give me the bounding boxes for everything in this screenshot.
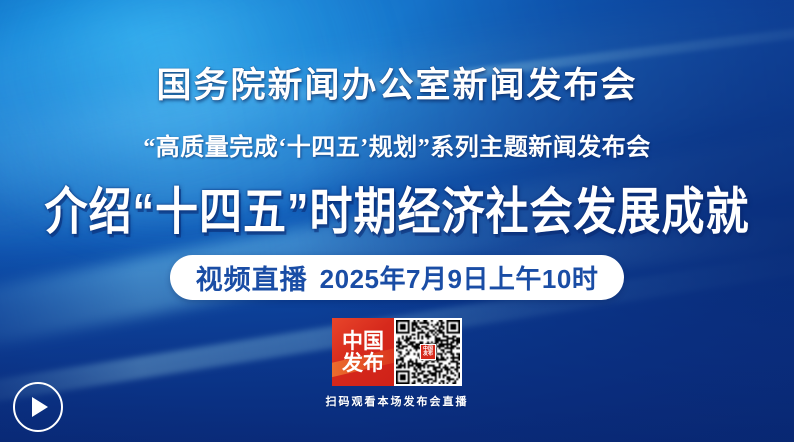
live-label: 视频直播 — [196, 258, 308, 297]
qr-block: 中国 发布 中国 发布 扫码观看本场发布会直播 — [326, 318, 469, 409]
poster-content: 国务院新闻办公室新闻发布会 “高质量完成‘十四五’规划”系列主题新闻发布会 介绍… — [0, 0, 794, 442]
qr-caption: 扫码观看本场发布会直播 — [326, 393, 469, 409]
series-subtitle: “高质量完成‘十四五’规划”系列主题新闻发布会 — [143, 127, 650, 162]
page-title: 国务院新闻办公室新闻发布会 — [156, 57, 637, 108]
play-button[interactable] — [13, 382, 63, 432]
headline: 介绍“十四五”时期经济社会发展成就 — [45, 171, 750, 244]
broadcast-poster: 国务院新闻办公室新闻发布会 “高质量完成‘十四五’规划”系列主题新闻发布会 介绍… — [0, 0, 794, 442]
qr-code[interactable]: 中国 发布 — [394, 318, 462, 386]
brand-logo-line-1: 中国 — [342, 331, 384, 352]
play-triangle-icon — [32, 397, 48, 417]
qr-center-line-2: 发布 — [423, 352, 433, 357]
qr-row: 中国 发布 中国 发布 — [332, 318, 462, 386]
live-broadcast-badge: 视频直播 2025年7月9日上午10时 — [170, 255, 625, 300]
qr-center-logo: 中国 发布 — [420, 344, 436, 360]
live-datetime: 2025年7月9日上午10时 — [320, 259, 599, 296]
brand-logo: 中国 发布 — [332, 318, 394, 386]
brand-logo-line-2: 发布 — [342, 353, 384, 374]
